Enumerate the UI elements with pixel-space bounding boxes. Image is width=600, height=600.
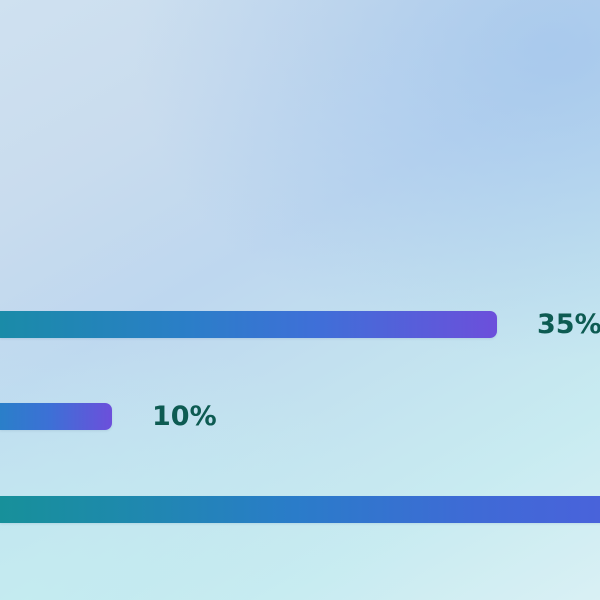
- bar-group: 35% 10%: [0, 0, 600, 600]
- bar-row: 35%: [0, 310, 600, 338]
- bar-fill: [0, 496, 600, 523]
- bar-track: [0, 311, 497, 338]
- bar-value-label: 10%: [152, 403, 217, 430]
- bar-row: [0, 495, 600, 523]
- bar-track: [0, 403, 112, 430]
- bar-track: [0, 496, 600, 523]
- bar-row: 10%: [0, 402, 600, 430]
- chart-content: rt geehrt? 35% 10%: [0, 0, 600, 600]
- bar-fill: [0, 403, 112, 430]
- chart-canvas: rt geehrt? 35% 10%: [0, 0, 600, 600]
- bar-value-label: 35%: [537, 311, 600, 338]
- bar-fill: [0, 311, 497, 338]
